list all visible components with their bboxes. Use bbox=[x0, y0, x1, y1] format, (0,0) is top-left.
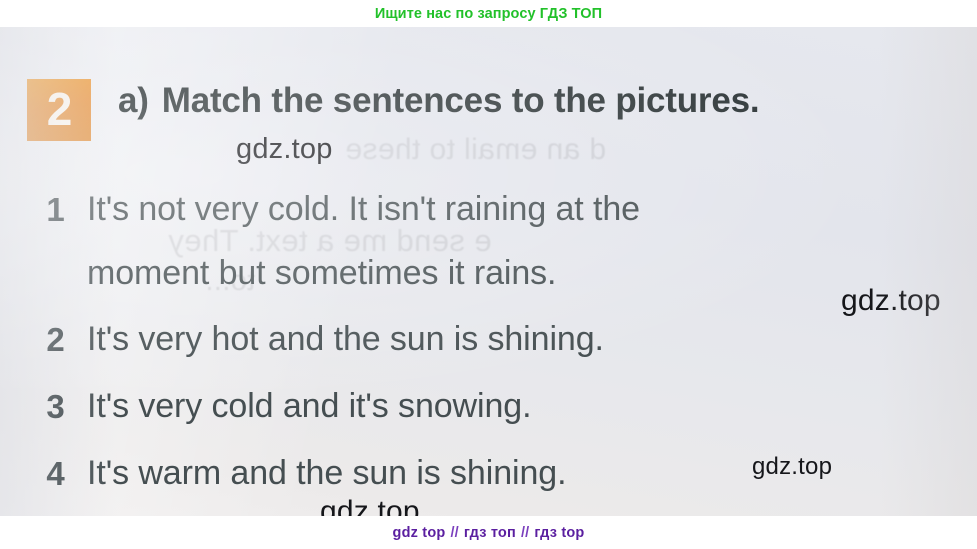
sentence-item: 2 It's very hot and the sun is shining. bbox=[24, 307, 954, 372]
task-instruction-heading: a)Match the sentences to the pictures. bbox=[118, 81, 938, 121]
scanned-page-image: d an email to these e send me a text. Th… bbox=[0, 27, 977, 516]
sentence-number: 2 bbox=[24, 307, 87, 372]
exercise-number-badge: 2 bbox=[27, 79, 91, 141]
sentence-text: It's very cold and it's snowing. bbox=[87, 374, 531, 439]
exercise-number: 2 bbox=[47, 86, 72, 132]
bottom-banner-part-3: гдз top bbox=[534, 525, 584, 541]
watermark-gdz-top: gdz.top bbox=[236, 133, 333, 166]
top-promo-banner-text: Ищите нас по запросу ГДЗ ТОП bbox=[375, 6, 602, 22]
watermark-gdz-top: gdz.top bbox=[320, 495, 420, 516]
page-showthrough-text: d an email to these bbox=[345, 133, 606, 167]
sentence-text: It's not very cold. It isn't raining at … bbox=[87, 177, 640, 305]
sentence-number: 1 bbox=[24, 177, 87, 242]
bottom-banner-part-1: gdz top bbox=[393, 525, 446, 541]
sentence-text: It's very hot and the sun is shining. bbox=[87, 307, 604, 372]
bottom-banner-separator: // bbox=[450, 525, 458, 541]
sentence-line: moment but sometimes it rains. bbox=[87, 241, 640, 305]
top-promo-banner: Ищите нас по запросу ГДЗ ТОП bbox=[0, 0, 977, 27]
sentence-item: 1 It's not very cold. It isn't raining a… bbox=[24, 177, 954, 305]
sentence-line: It's not very cold. It isn't raining at … bbox=[87, 177, 640, 241]
watermark-gdz-top: gdz.top bbox=[752, 453, 832, 481]
sentence-number: 4 bbox=[24, 441, 87, 506]
task-instruction-text: Match the sentences to the pictures. bbox=[162, 81, 760, 120]
sentence-number: 3 bbox=[24, 374, 87, 439]
sentence-item: 3 It's very cold and it's snowing. bbox=[24, 374, 954, 439]
bottom-promo-banner: gdz top//гдз топ//гдз top bbox=[0, 516, 977, 549]
watermark-gdz-top: gdz.top bbox=[841, 284, 941, 318]
bottom-banner-separator: // bbox=[521, 525, 529, 541]
bottom-promo-banner-text: gdz top//гдз топ//гдз top bbox=[393, 525, 585, 541]
bottom-banner-part-2: гдз топ bbox=[464, 525, 516, 541]
task-part-label: a) bbox=[118, 81, 149, 120]
